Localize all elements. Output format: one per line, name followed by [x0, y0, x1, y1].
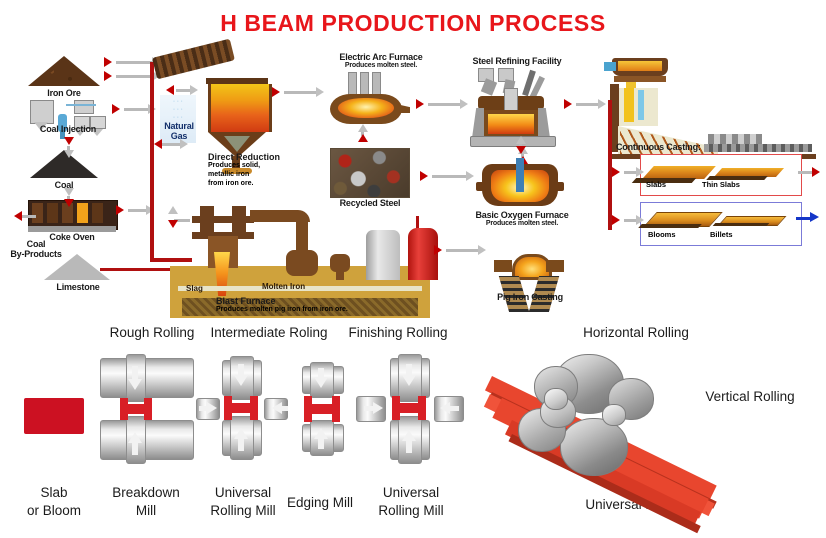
label-recycled-steel: Recycled Steel — [324, 198, 416, 208]
desc-blast-furnace: Produces molten pig iron from iron ore. — [216, 306, 436, 313]
label-coal-injection: Coal Injection — [18, 124, 118, 134]
urm2-line1: Universal — [383, 485, 439, 500]
label-slabs: Slabs — [646, 180, 666, 189]
label-slab-or-bloom: Slab or Bloom — [14, 484, 94, 520]
slab-line1: Slab — [40, 485, 67, 500]
urm1-line2: Rolling Mill — [210, 503, 275, 518]
page-title: H BEAM PRODUCTION PROCESS — [0, 10, 826, 37]
slab-or-bloom-icon — [24, 398, 84, 434]
label-universal-rolling-mill-2: Universal Rolling Mill — [358, 484, 464, 520]
conveyor-icon — [152, 39, 235, 80]
natural-gas-line1: Natural — [164, 121, 194, 131]
label-basic-oxygen-furnace: Basic Oxygen Furnace — [452, 210, 592, 220]
slab-line2: or Bloom — [27, 503, 81, 518]
label-limestone: Limestone — [32, 282, 124, 292]
bus-bar-caster — [608, 100, 612, 230]
dr-desc-1: Produces solid, — [208, 162, 260, 169]
label-iron-ore: Iron Ore — [22, 88, 106, 98]
bus-bar-left — [150, 62, 154, 262]
dr-desc-3: from iron ore. — [208, 180, 254, 187]
label-horizontal-rolling: Horizontal Rolling — [556, 324, 716, 342]
label-continuous-casting: Continuous Casting: — [616, 142, 744, 152]
desc-electric-arc-furnace: Produces molten steel. — [318, 62, 444, 70]
breakdown-line2: Mill — [136, 503, 156, 518]
label-breakdown-mill: Breakdown Mill — [94, 484, 198, 520]
desc-basic-oxygen-furnace: Produces molten steel. — [452, 220, 592, 228]
by-products-line1: Coal — [27, 239, 46, 249]
label-billets: Billets — [710, 230, 733, 239]
label-edging-mill: Edging Mill — [276, 494, 364, 512]
label-thin-slabs: Thin Slabs — [702, 180, 740, 189]
desc-direct-reduction: Produces solid, metallic iron from iron … — [208, 162, 318, 188]
label-electric-arc-furnace: Electric Arc Furnace — [318, 52, 444, 62]
urm2-line2: Rolling Mill — [378, 503, 443, 518]
universal-rolling-3d-icon — [496, 348, 736, 498]
label-pig-iron-casting: Pig Iron Casting — [472, 292, 588, 302]
bus-bar-left-foot — [150, 258, 192, 262]
label-blast-furnace: Blast Furnace — [216, 296, 376, 306]
label-molten-iron: Molten Iron — [262, 282, 305, 291]
dr-desc-2: metallic iron — [208, 171, 249, 178]
recycled-steel-icon — [330, 148, 410, 198]
urm1-line1: Universal — [215, 485, 271, 500]
label-blooms: Blooms — [648, 230, 676, 239]
breakdown-line1: Breakdown — [112, 485, 180, 500]
label-steel-refining-facility: Steel Refining Facility — [452, 56, 582, 66]
header-finishing-rolling: Finishing Rolling — [334, 324, 462, 342]
label-direct-reduction: Direct Reduction — [208, 152, 318, 162]
header-intermediate-rolling: Intermediate Roling — [196, 324, 342, 342]
label-slag: Slag — [186, 284, 203, 293]
